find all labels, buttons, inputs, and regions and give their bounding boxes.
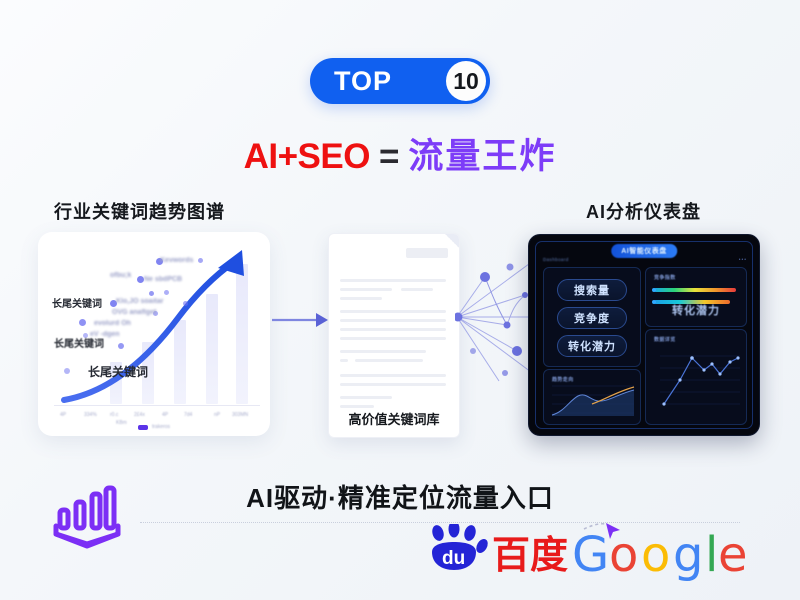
flow-arrow-icon xyxy=(272,310,328,330)
svg-text:o: o xyxy=(609,527,638,581)
chart-keyword-label: 长尾关键词 xyxy=(88,363,148,380)
chart-blur-text: Kevwords xyxy=(160,257,193,264)
svg-text:g: g xyxy=(673,527,703,581)
heat-marker-dot xyxy=(652,300,656,304)
heat-marker-dot xyxy=(652,288,656,292)
google-logo: G o o g l e xyxy=(572,519,748,581)
metric-pill-search-volume[interactable]: 搜索量 xyxy=(557,279,627,301)
ai-dashboard-panel: AI智能仪表盘 Dashboard ••• 搜索量 竞争度 转化潜力 趋势走向 xyxy=(528,234,760,436)
dashboard-area-chart-panel: 趋势走向 xyxy=(543,369,641,425)
dashboard-metrics-panel: 搜索量 竞争度 转化潜力 xyxy=(543,267,641,367)
chart-node-dot xyxy=(164,290,169,295)
doc-text-line xyxy=(340,319,446,322)
chart-axis-note: KBm xyxy=(116,420,127,426)
dashboard-title-badge: AI智能仪表盘 xyxy=(611,244,677,258)
baidu-mark-text: du xyxy=(442,548,465,569)
conversion-overlay-label: 转化潜力 xyxy=(672,302,720,318)
dashboard-menu-icon[interactable]: ••• xyxy=(739,257,747,263)
headline-equals: = xyxy=(379,137,399,176)
chart-node-dot xyxy=(149,291,154,296)
dashboard-competition-panel: 竞争指数 转化潜力 xyxy=(645,267,747,327)
top-badge-rank: 10 xyxy=(446,61,486,101)
chart-x-axis xyxy=(54,405,260,406)
chart-tick-label: 7d4 xyxy=(184,412,192,418)
doc-text-line xyxy=(340,396,392,399)
doc-card-label: 高价值关键词库 xyxy=(329,409,459,428)
doc-text-line xyxy=(340,383,446,386)
chart-blur-text: evolurd Oh xyxy=(94,320,131,327)
chart-tick-label: 334% xyxy=(84,412,97,418)
chart-inner: Kevwords Ne sbdPCB Klo,JO soaitar OVG an… xyxy=(38,232,270,436)
chart-blur-text: ofbu;k xyxy=(110,272,131,279)
metric-pill-competition[interactable]: 竞争度 xyxy=(557,307,627,329)
chart-keyword-label: 长尾关键词 xyxy=(54,335,104,350)
dashboard-data-panel: 数据详览 xyxy=(645,329,747,425)
chart-tick-label: 2£4x xyxy=(134,412,145,418)
doc-text-line xyxy=(340,359,348,362)
chart-blur-text: OVG anaflget xyxy=(112,309,156,316)
chart-node-dot xyxy=(198,258,203,263)
chart-keyword-label: 长尾关键词 xyxy=(52,295,102,310)
dashboard-subtitle: Dashboard xyxy=(543,257,569,262)
bar-chart-podium-icon xyxy=(48,484,126,554)
chart-node-dot xyxy=(118,343,124,349)
svg-text:e: e xyxy=(718,527,748,581)
headline-ai-seo: AI+SEO xyxy=(244,137,370,176)
doc-text-line xyxy=(340,288,392,291)
svg-text:l: l xyxy=(705,527,718,581)
chart-tick-label: 4P xyxy=(162,412,168,418)
doc-text-line xyxy=(340,405,374,408)
chart-tick-label: nP xyxy=(214,412,220,418)
metric-pill-conversion[interactable]: 转化潜力 xyxy=(557,335,627,357)
chart-blur-text: Klo,JO soaitar xyxy=(116,298,163,305)
slide-canvas: TOP 10 AI+SEO=流量王炸 行业关键词趋势图谱 AI分析仪表盘 xyxy=(0,0,800,600)
legend-swatch xyxy=(138,425,148,430)
keyword-trend-chart-card: Kevwords Ne sbdPCB Klo,JO soaitar OVG an… xyxy=(38,232,270,436)
doc-header-chip xyxy=(406,248,448,258)
chart-node-dot xyxy=(183,301,188,306)
chart-node-dot xyxy=(79,319,86,326)
chart-blur-text: Ne sbdPCB xyxy=(144,276,182,283)
legend-label: trakeros xyxy=(152,424,170,430)
chart-tick-label: 303MN xyxy=(232,412,248,418)
page-fold-corner xyxy=(445,234,459,248)
doc-text-line xyxy=(340,374,446,377)
doc-text-line xyxy=(340,279,446,282)
chart-node-dot xyxy=(137,276,144,283)
baidu-logo: du 百度 xyxy=(420,524,580,578)
chart-tick-label: 4P xyxy=(60,412,66,418)
headline: AI+SEO=流量王炸 xyxy=(0,128,800,179)
baidu-wordmark: 百度 xyxy=(492,535,568,577)
section-label-left: 行业关键词趋势图谱 xyxy=(54,198,225,224)
doc-text-line xyxy=(340,297,382,300)
doc-text-line xyxy=(340,310,446,313)
top-badge-label: TOP xyxy=(334,68,392,95)
chart-legend: trakeros xyxy=(138,424,170,430)
doc-text-line xyxy=(355,359,423,362)
heat-bar-primary xyxy=(654,288,736,292)
svg-text:G: G xyxy=(572,527,609,581)
line-chart-icon xyxy=(646,330,746,424)
area-chart-icon xyxy=(544,370,640,424)
doc-text-line xyxy=(340,350,426,353)
doc-text-line xyxy=(401,288,433,291)
chart-tick-label: r0.c xyxy=(110,412,118,418)
doc-text-line xyxy=(340,337,446,340)
heat-panel-caption: 竞争指数 xyxy=(654,274,676,281)
headline-result: 流量王炸 xyxy=(408,137,556,176)
section-label-right: AI分析仪表盘 xyxy=(586,198,701,224)
keyword-library-document-card: 高价值关键词库 xyxy=(328,233,460,438)
top-rank-badge: TOP 10 xyxy=(310,58,490,104)
doc-text-line xyxy=(340,328,446,331)
chart-node-dot xyxy=(64,368,70,374)
svg-text:o: o xyxy=(641,527,670,581)
